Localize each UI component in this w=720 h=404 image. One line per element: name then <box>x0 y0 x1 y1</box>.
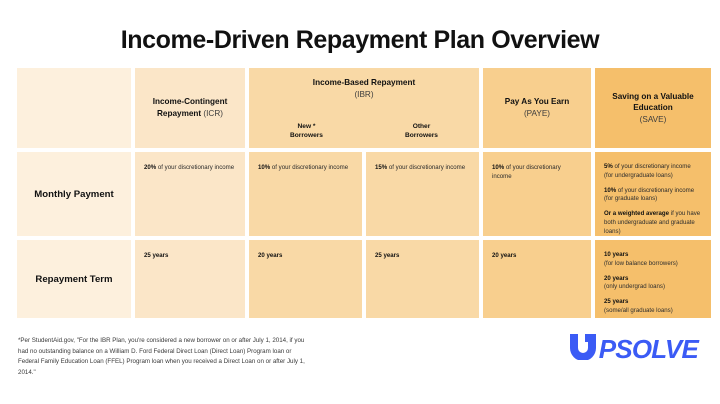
header-cell-paye: Pay As You Earn (PAYE) <box>483 68 591 148</box>
cell-term-ibr-new: 20 years <box>249 240 362 318</box>
table-row-repayment-term: Repayment Term 25 years 20 years 25 year… <box>17 240 703 318</box>
cell-monthly-ibr-new-value: 10% <box>258 164 270 171</box>
header-ibr-sub-new-line1: New * <box>298 123 316 130</box>
cell-monthly-icr-value: 20% <box>144 164 156 171</box>
cell-term-ibr-new-value: 20 years <box>258 252 282 259</box>
header-icr-abbr: (ICR) <box>203 109 223 118</box>
header-ibr-sub-new-line2: Borrowers <box>290 132 323 139</box>
upsolve-wordmark: PSOLVE <box>599 336 698 362</box>
cell-monthly-ibr: 10% of your discretionary income 15% of … <box>249 152 479 236</box>
cell-term-save: 10 years (for low balance borrowers) 20 … <box>595 240 711 318</box>
row-label-repayment-term: Repayment Term <box>17 240 131 318</box>
cell-term-save-item-3: 25 years (some/all graduate loans) <box>604 298 702 316</box>
row-label-monthly-payment: Monthly Payment <box>17 152 131 236</box>
cell-term-icr-value: 25 years <box>144 252 168 259</box>
cell-monthly-ibr-new-text: of your discretionary income <box>270 164 348 171</box>
cell-term-save-item-2-value: 20 years <box>604 275 628 282</box>
cell-term-paye-value: 20 years <box>492 252 516 259</box>
cell-monthly-save-item-2-text: of your discretionary income <box>616 187 694 194</box>
header-ibr-sub-new: New * Borrowers <box>249 122 364 141</box>
cell-term-save-item-2: 20 years (only undergrad loans) <box>604 275 702 293</box>
header-cell-icr: Income-Contingent Repayment (ICR) <box>135 68 245 148</box>
comparison-table: Income-Contingent Repayment (ICR) Income… <box>17 68 703 318</box>
cell-term-icr: 25 years <box>135 240 245 318</box>
row-label-repayment-term-text: Repayment Term <box>17 240 131 318</box>
cell-monthly-save-item-3: Or a weighted average if you have both u… <box>604 210 702 236</box>
header-save-abbr: (SAVE) <box>640 114 667 126</box>
cell-monthly-save-item-3-value: Or a weighted average <box>604 210 669 217</box>
cell-monthly-ibr-new: 10% of your discretionary income <box>249 152 362 236</box>
header-paye-abbr: (PAYE) <box>524 108 550 120</box>
cell-monthly-save-item-1: 5% of your discretionary income (for und… <box>604 163 702 181</box>
row-label-monthly-payment-text: Monthly Payment <box>17 152 131 236</box>
cell-monthly-save-item-1-value: 5% <box>604 163 613 170</box>
page-title: Income-Driven Repayment Plan Overview <box>0 0 720 55</box>
cell-monthly-paye-value: 10% <box>492 164 504 171</box>
cell-term-save-item-1: 10 years (for low balance borrowers) <box>604 251 702 269</box>
header-ibr-sub-other: Other Borrowers <box>364 122 479 141</box>
cell-term-save-item-3-sub: (some/all graduate loans) <box>604 307 702 316</box>
header-cell-corner <box>17 68 131 148</box>
cell-monthly-icr: 20% of your discretionary income <box>135 152 245 236</box>
cell-monthly-paye: 10% of your discretionary income <box>483 152 591 236</box>
cell-monthly-save-item-1-text: of your discretionary income <box>613 163 691 170</box>
header-ibr-abbr: (IBR) <box>249 89 479 101</box>
cell-term-ibr-other-value: 25 years <box>375 252 399 259</box>
table-header-row: Income-Contingent Repayment (ICR) Income… <box>17 68 703 148</box>
cell-monthly-save-item-2-value: 10% <box>604 187 616 194</box>
cell-monthly-save-item-1-sub: (for undergraduate loans) <box>604 172 702 181</box>
cell-term-save-item-1-sub: (for low balance borrowers) <box>604 260 702 269</box>
cell-monthly-ibr-other-value: 15% <box>375 164 387 171</box>
cell-term-save-item-1-value: 10 years <box>604 251 628 258</box>
cell-term-paye: 20 years <box>483 240 591 318</box>
cell-monthly-save-item-2: 10% of your discretionary income (for gr… <box>604 187 702 205</box>
upsolve-logo: PSOLVE <box>568 333 698 365</box>
cell-term-save-item-3-value: 25 years <box>604 298 628 305</box>
upsolve-u-mark-icon <box>568 333 598 365</box>
header-save-title: Saving on a Valuable Education <box>601 91 705 114</box>
cell-term-ibr: 20 years 25 years <box>249 240 479 318</box>
cell-monthly-ibr-other-text: of your discretionary income <box>387 164 465 171</box>
header-paye-title: Pay As You Earn <box>505 96 569 108</box>
header-ibr-sub-other-line2: Borrowers <box>405 132 438 139</box>
cell-monthly-icr-text: of your discretionary income <box>156 164 234 171</box>
footnote: *Per StudentAid.gov, "For the IBR Plan, … <box>18 336 308 379</box>
header-ibr-title: Income-Based Repayment <box>249 77 479 89</box>
cell-term-save-item-2-sub: (only undergrad loans) <box>604 283 702 292</box>
header-cell-ibr: Income-Based Repayment (IBR) New * Borro… <box>249 68 479 148</box>
header-ibr-sub-other-line1: Other <box>413 123 431 130</box>
cell-monthly-save-item-3-sub: both undergraduate and graduate loans) <box>604 219 702 236</box>
cell-monthly-save-item-2-sub: (for graduate loans) <box>604 195 702 204</box>
cell-monthly-save: 5% of your discretionary income (for und… <box>595 152 711 236</box>
header-cell-save: Saving on a Valuable Education (SAVE) <box>595 68 711 148</box>
cell-monthly-save-item-3-text: if you have <box>669 210 700 217</box>
cell-term-ibr-other: 25 years <box>366 240 479 318</box>
table-row-monthly-payment: Monthly Payment 20% of your discretionar… <box>17 152 703 236</box>
cell-monthly-ibr-other: 15% of your discretionary income <box>366 152 479 236</box>
